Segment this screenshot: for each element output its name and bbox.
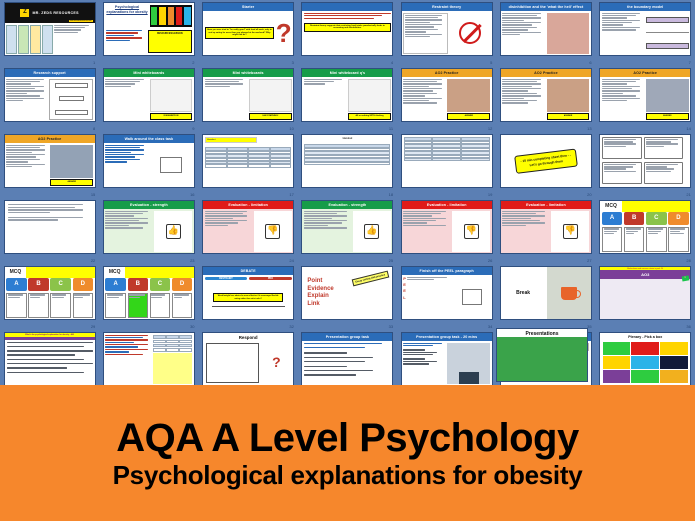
slide-thumbnail-2[interactable]: Psychological explanations for obesity (103, 2, 195, 56)
slide-cell[interactable]: Evaluation - strength 👍 25 (298, 198, 397, 264)
mcq-question (26, 267, 94, 278)
mcq-label: MCQ (600, 201, 622, 212)
callout-box: I AM STARVING! (249, 113, 292, 120)
slide-title: AO2 Practice (600, 69, 690, 77)
slide-thumbnail-20[interactable]: - 15 min completing sheet then - - Let's… (500, 134, 592, 188)
answer-callout: ANSWER (547, 113, 590, 119)
slide-thumbnail-5[interactable]: Restraint theory (401, 2, 493, 56)
preview-thumb (18, 25, 29, 54)
callout-box: DISINHIBITION (150, 113, 193, 120)
slide-thumbnail-22[interactable] (4, 200, 96, 254)
thumbnail-row: 22 Evaluation - strength 👍 (0, 198, 695, 264)
slide-title: AO2 Practice (402, 69, 492, 77)
slide-cell[interactable]: Evaluation - limitation 👎 24 (199, 198, 298, 264)
worksheet-table (302, 142, 392, 187)
z-logo-icon: Z (20, 9, 29, 17)
peel-evidence: Evidence (307, 286, 392, 293)
mcq-option-a[interactable]: A (6, 278, 27, 291)
slide-text (304, 13, 391, 20)
thumbs-down-icon: 👎 (563, 224, 578, 239)
preview-thumb (6, 25, 17, 54)
slide-thumbnail-11[interactable]: Mini whiteboard q's All or nothing/ WTH … (301, 68, 393, 122)
slide-cell[interactable]: MCQ A B C D (596, 198, 695, 264)
worksheet-table (203, 145, 293, 187)
mcq-option-b[interactable]: B (624, 212, 645, 225)
plenary-box-grid[interactable] (600, 339, 690, 385)
callout-box: RESOURCES/LESSON (148, 30, 192, 53)
slide-text (502, 79, 545, 120)
mcq-option-d[interactable]: D (668, 212, 689, 225)
slide-thumbnail-15[interactable]: AO2 Practice ANSWER (4, 134, 96, 188)
debate-side-left: RESTRAINT (205, 277, 248, 280)
title-banner: AQA A Level Psychology Psychological exp… (0, 385, 695, 521)
slide-thumbnail-9[interactable]: Mini whiteboards DISINHIBITION (103, 68, 195, 122)
slide-thumbnail-4[interactable]: Restraint theory suggests that restricti… (301, 2, 393, 56)
plenary-box[interactable] (660, 342, 688, 355)
slide-thumbnail-grid: Z MR. ZEDS RESOURCES www.mrzedsresources… (0, 0, 695, 385)
mcq-label: MCQ (5, 267, 27, 278)
slide-text (302, 341, 392, 385)
preview-text (54, 25, 93, 54)
thumbnail-row: MCQ A B C D (0, 264, 695, 330)
slide-cell[interactable]: Evaluation - limitation 👎 26 (397, 198, 496, 264)
whiteboard-image (348, 79, 391, 112)
slide-title: Mini whiteboards (203, 69, 293, 77)
banner-title: AQA A Level Psychology (116, 418, 578, 458)
photo-people (50, 145, 93, 179)
slide-text (602, 13, 645, 54)
plenary-box[interactable] (631, 370, 659, 383)
slide-title: Mini whiteboard q's (302, 69, 392, 77)
break-label: Break (516, 290, 530, 296)
slide-thumbnail-17[interactable]: Handout (202, 134, 294, 188)
slide-thumbnail-35[interactable]: Markscheme and success criteria in pack:… (599, 266, 691, 320)
mcq-option-c[interactable]: C (646, 212, 667, 225)
slide-thumbnail-43[interactable]: Presentations (496, 328, 588, 382)
slide-text (8, 204, 92, 213)
slide-cell[interactable]: MCQ A B C D (0, 264, 99, 330)
thumbs-down-icon: 👎 (464, 224, 479, 239)
slide-thumbnail-25[interactable]: Evaluation - strength 👍 (301, 200, 393, 254)
mcq-option-a[interactable]: A (105, 278, 126, 291)
slide-text (403, 343, 446, 384)
slide-cell[interactable]: 19 (397, 132, 496, 198)
slide-thumbnail-14[interactable]: AO2 Practice ANSWER (599, 68, 691, 122)
slide-text (6, 145, 49, 186)
slide-title: Presentation group task - 20 mins (402, 333, 492, 341)
slide-text (304, 79, 347, 120)
slide-text (403, 211, 451, 252)
slide-cell[interactable]: AO2 Practice ANSWER 15 (0, 132, 99, 198)
slide-title: Respond (203, 333, 293, 341)
photo-scales (547, 79, 590, 113)
mcq-option-d[interactable]: D (73, 278, 94, 291)
response-box (206, 343, 259, 383)
boundary-model-diagram (646, 13, 689, 54)
slide-title: disinhibition and the 'what the hell' ef… (501, 3, 591, 11)
sticky-note: - 15 min completing sheet then - - Let's… (514, 148, 578, 173)
slide-thumbnail-34[interactable]: Break (500, 266, 592, 320)
slide-cell[interactable]: the boundary model (596, 0, 695, 66)
slide-thumbnail-12[interactable]: AO2 Practice ANSWER (401, 68, 493, 122)
question-mark-icon: ? (272, 354, 281, 372)
slide-thumbnail-44[interactable]: Plenary - Pick a box (599, 332, 691, 386)
plenary-box[interactable] (660, 370, 688, 383)
thumbs-up-icon: 👍 (364, 224, 379, 239)
slide-title: Starter (203, 3, 293, 11)
mcq-correct-answer (128, 293, 149, 318)
slide-title: Evaluation - limitation (203, 201, 293, 209)
mcq-answer-texts (5, 291, 95, 319)
slide-thumbnail-38[interactable]: Respond ? (202, 332, 294, 386)
thumbnail-row: AO2 Practice ANSWER 15 (0, 132, 695, 198)
slide-title: Presentation group task (302, 333, 392, 341)
break-photo (547, 267, 591, 319)
slide-thumbnail-39[interactable]: Presentation group task (301, 332, 393, 386)
annotated-essay (105, 335, 152, 384)
debate-side-right: PRO (249, 277, 292, 280)
slide-thumbnail-40[interactable]: Presentation group task - 20 mins (401, 332, 493, 386)
markscheme-text (5, 340, 95, 385)
slide-bullets (106, 30, 146, 53)
slide-title: Finish off the PEEL paragraph (402, 267, 492, 275)
research-diagram (49, 79, 93, 120)
plenary-box[interactable] (631, 356, 659, 369)
slide-title: Mini whiteboards (104, 69, 194, 77)
body-figures-image (150, 5, 192, 27)
mcq-options[interactable]: A B C D (104, 278, 194, 291)
slide-text (205, 211, 253, 252)
slide-text (205, 79, 248, 120)
slide-text (502, 13, 545, 54)
slide-title: the boundary model (600, 3, 690, 11)
mcq-question (125, 267, 193, 278)
slide-cell[interactable]: Mini whiteboards DISINHIBITION 9 (99, 66, 198, 132)
thumbnail-row: Z MR. ZEDS RESOURCES www.mrzedsresources… (0, 0, 695, 66)
brand-name: MR. ZEDS RESOURCES (32, 11, 78, 15)
slide-cell[interactable]: Restraint theory suggests that restricti… (298, 0, 397, 66)
slide-title (302, 3, 392, 11)
slide-cell[interactable]: Handout 17 (199, 132, 298, 198)
slide-cell[interactable]: Mini whiteboard q's All or nothing/ WTH … (298, 66, 397, 132)
slide-cell[interactable]: 22 (0, 198, 99, 264)
worksheet-label: Handout (205, 137, 257, 143)
mcq-options[interactable]: A B C D (600, 212, 690, 225)
slide-cell[interactable]: Handout 18 (298, 132, 397, 198)
photo-people (646, 79, 689, 113)
slide-thumbnail-19[interactable] (401, 134, 493, 188)
callout-box: All or nothing/ WTH thinking (348, 113, 391, 120)
slide-cell[interactable]: Evaluation - limitation 👎 27 (496, 198, 595, 264)
slide-title: Evaluation - strength (302, 201, 392, 209)
slide-thumbnail-16[interactable]: Walk around the class task (103, 134, 195, 188)
slide-title: Restraint theory (402, 3, 492, 11)
slide-text (105, 145, 148, 186)
answer-callout: ANSWER (646, 113, 689, 119)
debate-scale (212, 306, 285, 307)
presentation-illustration (497, 337, 587, 381)
slide-cell[interactable]: AO2 Practice ANSWER 14 (596, 66, 695, 132)
slide-text (403, 79, 446, 120)
slide-thumbnail-7[interactable]: the boundary model (599, 2, 691, 56)
slide-thumbnail-30[interactable]: MCQ A B C D (103, 266, 195, 320)
slide-thumbnail-31[interactable]: DEBATE RESTRAINT PRO Would weight loss a… (202, 266, 294, 320)
slide-thumbnail-32[interactable]: Point Evidence Explain Link Essay writin… (301, 266, 393, 320)
preview-thumb (30, 25, 41, 54)
starter-question: Have you ever tried to "be really good" … (205, 27, 275, 39)
mcq-answer-texts (600, 225, 690, 253)
slide-thumbnail-26[interactable]: Evaluation - limitation 👎 (401, 200, 493, 254)
marking-grid (153, 335, 192, 384)
plenary-box[interactable] (631, 342, 659, 355)
slide-cell[interactable]: Z MR. ZEDS RESOURCES www.mrzedsresources… (0, 0, 99, 66)
mcq-label: MCQ (104, 267, 126, 278)
slide-cell[interactable]: Starter Have you ever tried to "be reall… (199, 0, 298, 66)
slide-cell[interactable]: DEBATE RESTRAINT PRO Would weight loss a… (199, 264, 298, 330)
ao3-title: AO3 (600, 270, 690, 279)
slide-thumbnail-29[interactable]: MCQ A B C D (4, 266, 96, 320)
slide-text (105, 211, 153, 252)
slide-cell[interactable]: Finish off the PEEL paragraph PEEL (397, 264, 496, 330)
peel-explain: Explain (307, 293, 392, 300)
slide-thumbnail-13[interactable]: AO2 Practice ANSWER (500, 68, 592, 122)
photo-presenter (447, 343, 490, 384)
slide-thumbnail-36[interactable]: What's the psychological explanation for… (4, 332, 96, 386)
answer-callout: ANSWER (447, 113, 490, 119)
photo-scales (447, 79, 490, 113)
slide-thumbnail-27[interactable]: Evaluation - limitation 👎 (500, 200, 592, 254)
photo-person (547, 13, 590, 54)
whiteboard-image (150, 79, 193, 112)
slide-title: DEBATE (203, 267, 293, 275)
slide-text (304, 211, 352, 252)
slide-title-text: Psychological explanations for obesity (106, 5, 148, 27)
mcq-option-c[interactable]: C (150, 278, 171, 291)
debate-prompt: Would weight loss advice be more effecti… (213, 293, 283, 302)
slide-cell[interactable]: Psychological explanations for obesity (99, 0, 198, 66)
slide-thumbnail-1[interactable]: Z MR. ZEDS RESOURCES www.mrzedsresources… (4, 2, 96, 56)
mcq-option-b[interactable]: B (128, 278, 149, 291)
mcq-option-a[interactable]: A (602, 212, 623, 225)
banner-subtitle: Psychological explanations for obesity (113, 462, 583, 488)
mcq-options[interactable]: A B C D (5, 278, 95, 291)
slide-thumbnail-21[interactable] (599, 134, 691, 188)
slide-cell[interactable]: AO2 Practice ANSWER 13 (496, 66, 595, 132)
four-answer-boxes (600, 135, 690, 187)
plenary-box[interactable] (603, 370, 631, 383)
worksheet-table (402, 135, 492, 187)
mcq-option-b[interactable]: B (28, 278, 49, 291)
slide-title: AO2 Practice (5, 135, 95, 143)
no-junk-food-icon (459, 22, 481, 44)
question-mark-icon: ? (276, 20, 292, 46)
slide-thumbnail-33[interactable]: Finish off the PEEL paragraph PEEL (401, 266, 493, 320)
branding-header: Z MR. ZEDS RESOURCES www.mrzedsresources… (5, 3, 95, 23)
slide-text (105, 79, 148, 120)
slide-title: Evaluation - strength (104, 201, 194, 209)
slide-cell[interactable]: - 15 min completing sheet then - - Let's… (496, 132, 595, 198)
slide-thumbnail-24[interactable]: Evaluation - limitation 👎 (202, 200, 294, 254)
slide-cell[interactable]: Mini whiteboards I AM STARVING! 10 (199, 66, 298, 132)
slide-text (403, 13, 448, 54)
slide-cell[interactable]: Break 35 (496, 264, 595, 330)
slide-title: Evaluation - limitation (402, 201, 492, 209)
slide-cell[interactable]: Evaluation - strength 👍 23 (99, 198, 198, 264)
slide-thumbnail-10[interactable]: Mini whiteboards I AM STARVING! (202, 68, 294, 122)
thumbnail-row: Research support 8 (0, 66, 695, 132)
plenary-box[interactable] (603, 356, 631, 369)
preview-strip (5, 23, 95, 55)
slide-cell[interactable]: disinhibition and the 'what the hell' ef… (496, 0, 595, 66)
slide-text (8, 217, 92, 221)
presentation-thumbnail-page: Z MR. ZEDS RESOURCES www.mrzedsresources… (0, 0, 695, 521)
slide-title: AO2 Practice (501, 69, 591, 77)
mcq-option-d[interactable]: D (172, 278, 193, 291)
slide-text (502, 211, 550, 252)
pencil-notepad-icon (462, 289, 482, 305)
slide-thumbnail-8[interactable]: Research support (4, 68, 96, 122)
highlight-box: Restraint theory suggests that restricti… (304, 23, 391, 32)
slide-cell[interactable]: Point Evidence Explain Link Essay writin… (298, 264, 397, 330)
peel-letters: PEEL (403, 277, 451, 318)
slide-thumbnail-3[interactable]: Starter Have you ever tried to "be reall… (202, 2, 294, 56)
slide-cell[interactable]: Markscheme and success criteria in pack:… (596, 264, 695, 330)
slide-title: Research support (5, 69, 95, 77)
preview-thumb (42, 25, 53, 54)
whiteboard-image (249, 79, 292, 112)
slide-cell[interactable]: MCQ A B C D (99, 264, 198, 330)
coffee-mug-icon (561, 287, 577, 300)
mcq-question (622, 201, 690, 212)
slide-text (6, 79, 48, 120)
slide-cell[interactable]: Walk around the class task 16 (99, 132, 198, 198)
slide-text (602, 79, 645, 120)
slide-cell[interactable]: Research support 8 (0, 66, 99, 132)
answer-callout: ANSWER (50, 179, 93, 185)
slide-thumbnail-23[interactable]: Evaluation - strength 👍 (103, 200, 195, 254)
plenary-box[interactable] (603, 342, 631, 355)
slide-thumbnail-6[interactable]: disinhibition and the 'what the hell' ef… (500, 2, 592, 56)
brand-url: www.mrzedsresources.com (69, 20, 93, 22)
slide-thumbnail-18[interactable]: Handout (301, 134, 393, 188)
pencil-notepad-icon (160, 157, 182, 173)
slide-cell[interactable]: 21 (596, 132, 695, 198)
thumbs-up-icon: 👍 (166, 224, 181, 239)
slide-cell[interactable]: AO2 Practice ANSWER 12 (397, 66, 496, 132)
plenary-box[interactable] (660, 356, 688, 369)
slide-title: Evaluation - limitation (501, 201, 591, 209)
slide-title: Presentations (497, 329, 587, 337)
worksheet-label: Handout (343, 137, 353, 140)
slide-thumbnail-28[interactable]: MCQ A B C D (599, 200, 691, 254)
slide-thumbnail-37[interactable] (103, 332, 195, 386)
mcq-option-c[interactable]: C (50, 278, 71, 291)
slide-title: Walk around the class task (104, 135, 194, 143)
peel-link: Link (307, 301, 392, 308)
mcq-answer-texts (104, 291, 194, 319)
slide-cell[interactable]: Restraint theory 5 (397, 0, 496, 66)
thumbs-down-icon: 👎 (265, 224, 280, 239)
